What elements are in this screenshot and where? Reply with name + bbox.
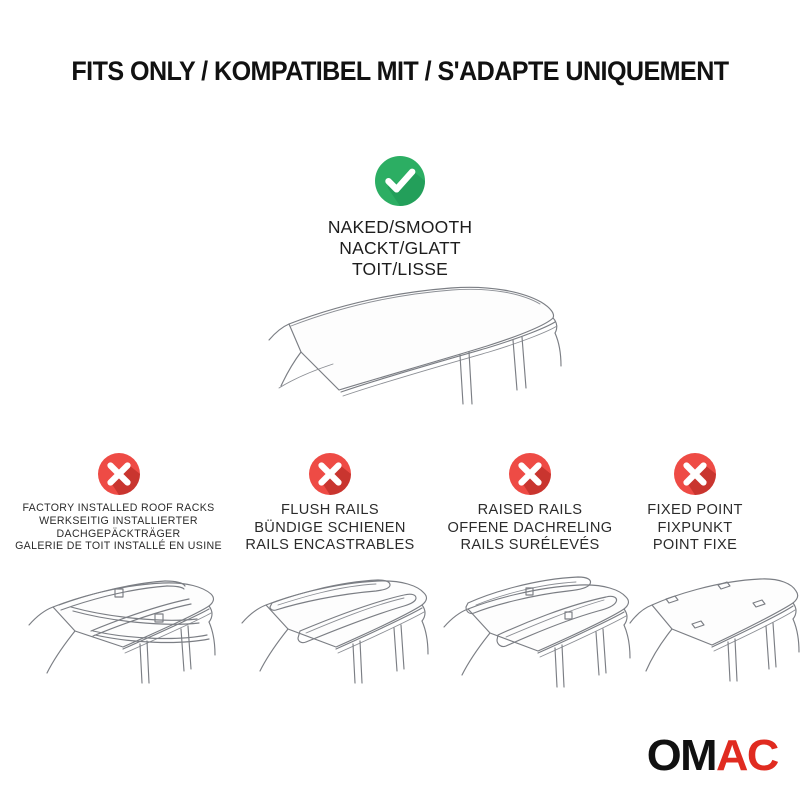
compatible-label-de: NACKT/GLATT <box>0 238 800 259</box>
omac-logo-dark-part: OM <box>646 731 715 780</box>
car-roof-naked-smooth-illustration <box>255 278 575 408</box>
car-roof-fixed-point-illustration <box>620 561 770 696</box>
not-compatible-section: FACTORY INSTALLED ROOF RACKS WERKSEITIG … <box>0 452 800 702</box>
cross-circle-icon <box>308 452 352 496</box>
not-compatible-item-factory-roof-racks: FACTORY INSTALLED ROOF RACKS WERKSEITIG … <box>3 452 234 694</box>
not-compatible-item-raised-rails: RAISED RAILS OFFENE DACHRELING RAILS SUR… <box>428 452 632 696</box>
car-roof-raised-rails-illustration <box>428 561 632 696</box>
item-labels: FACTORY INSTALLED ROOF RACKS WERKSEITIG … <box>3 502 234 553</box>
check-circle-icon <box>374 155 426 207</box>
not-compatible-item-fixed-point: FIXED POINT FIXPUNKT POINT FIXE <box>620 452 770 696</box>
item-label-fr: RAILS ENCASTRABLES <box>228 537 432 555</box>
compatible-section: NAKED/SMOOTH NACKT/GLATT TOIT/LISSE <box>0 155 800 280</box>
compatible-labels: NAKED/SMOOTH NACKT/GLATT TOIT/LISSE <box>0 217 800 280</box>
item-label-de: FIXPUNKT <box>620 520 770 538</box>
item-label-en: FIXED POINT <box>620 502 770 520</box>
item-label-de-1: WERKSEITIG INSTALLIERTER <box>3 515 234 528</box>
item-label-fr: POINT FIXE <box>620 537 770 555</box>
item-label-de: BÜNDIGE SCHIENEN <box>228 520 432 538</box>
item-label-en: FACTORY INSTALLED ROOF RACKS <box>3 502 234 515</box>
omac-logo-red-part: AC <box>716 731 778 780</box>
not-compatible-item-flush-rails: FLUSH RAILS BÜNDIGE SCHIENEN RAILS ENCAS… <box>228 452 432 696</box>
item-label-fr: RAILS SURÉLEVÉS <box>428 537 632 555</box>
item-label-en: RAISED RAILS <box>428 502 632 520</box>
car-roof-factory-rack-illustration <box>3 559 234 694</box>
item-label-de: OFFENE DACHRELING <box>428 520 632 538</box>
cross-circle-icon <box>673 452 717 496</box>
item-label-fr: GALERIE DE TOIT INSTALLÉ EN USINE <box>3 540 234 553</box>
car-roof-flush-rails-illustration <box>228 561 432 696</box>
item-labels: FIXED POINT FIXPUNKT POINT FIXE <box>620 502 770 555</box>
page-title: FITS ONLY / KOMPATIBEL MIT / S'ADAPTE UN… <box>28 56 772 87</box>
compatible-label-fr: TOIT/LISSE <box>0 259 800 280</box>
item-labels: FLUSH RAILS BÜNDIGE SCHIENEN RAILS ENCAS… <box>228 502 432 555</box>
item-label-en: FLUSH RAILS <box>228 502 432 520</box>
cross-circle-icon <box>508 452 552 496</box>
item-labels: RAISED RAILS OFFENE DACHRELING RAILS SUR… <box>428 502 632 555</box>
omac-logo: OMAC <box>646 734 777 778</box>
compatible-label-en: NAKED/SMOOTH <box>0 217 800 238</box>
cross-circle-icon <box>97 452 141 496</box>
item-label-de-2: DACHGEPÄCKTRÄGER <box>3 528 234 541</box>
